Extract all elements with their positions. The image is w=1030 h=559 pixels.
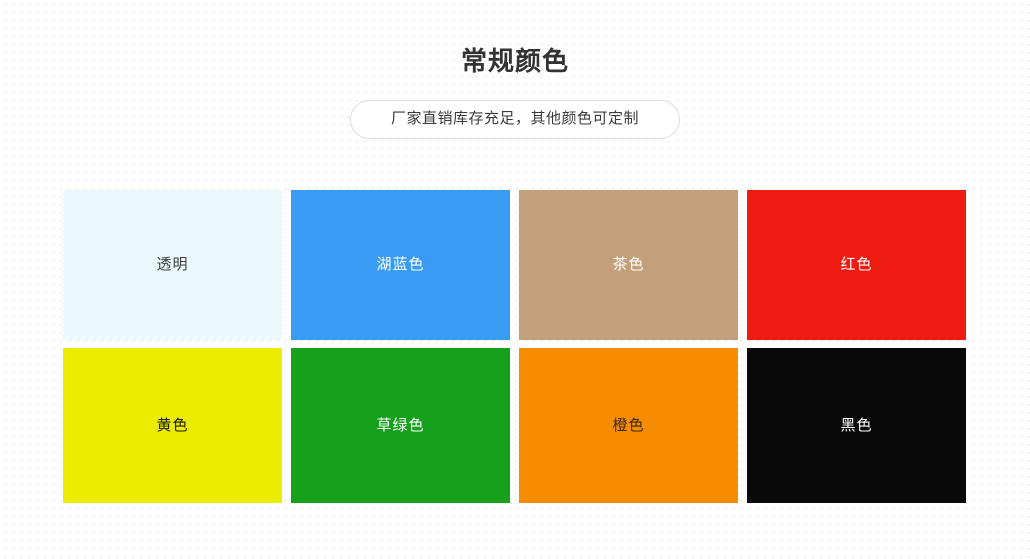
color-swatch-label: 透明 <box>156 255 188 275</box>
color-swatch-label: 湖蓝色 <box>376 255 424 275</box>
color-swatch[interactable]: 湖蓝色 <box>291 190 510 340</box>
color-catalog-page: 常规颜色 厂家直销库存充足，其他颜色可定制 透明 湖蓝色 茶色 红色 黄色 草绿… <box>0 0 1030 559</box>
color-swatch[interactable]: 橙色 <box>519 348 738 503</box>
color-swatch-label: 草绿色 <box>376 416 424 436</box>
page-title: 常规颜色 <box>0 44 1030 78</box>
color-swatch-label: 橙色 <box>612 416 644 436</box>
color-swatch[interactable]: 茶色 <box>519 190 738 340</box>
color-swatch[interactable]: 黑色 <box>747 348 966 503</box>
subtitle-badge: 厂家直销库存充足，其他颜色可定制 <box>350 100 680 139</box>
color-swatch[interactable]: 草绿色 <box>291 348 510 503</box>
color-swatch-label: 茶色 <box>612 255 644 275</box>
color-swatch[interactable]: 红色 <box>747 190 966 340</box>
color-swatch-grid: 透明 湖蓝色 茶色 红色 黄色 草绿色 橙色 黑色 <box>63 190 967 498</box>
color-swatch[interactable]: 黄色 <box>63 348 282 503</box>
color-swatch-label: 红色 <box>840 255 872 275</box>
color-swatch-label: 黑色 <box>840 416 872 436</box>
subtitle-container: 厂家直销库存充足，其他颜色可定制 <box>0 100 1030 139</box>
page-header: 常规颜色 <box>0 44 1030 78</box>
color-swatch-label: 黄色 <box>156 416 188 436</box>
color-swatch[interactable]: 透明 <box>63 190 282 340</box>
